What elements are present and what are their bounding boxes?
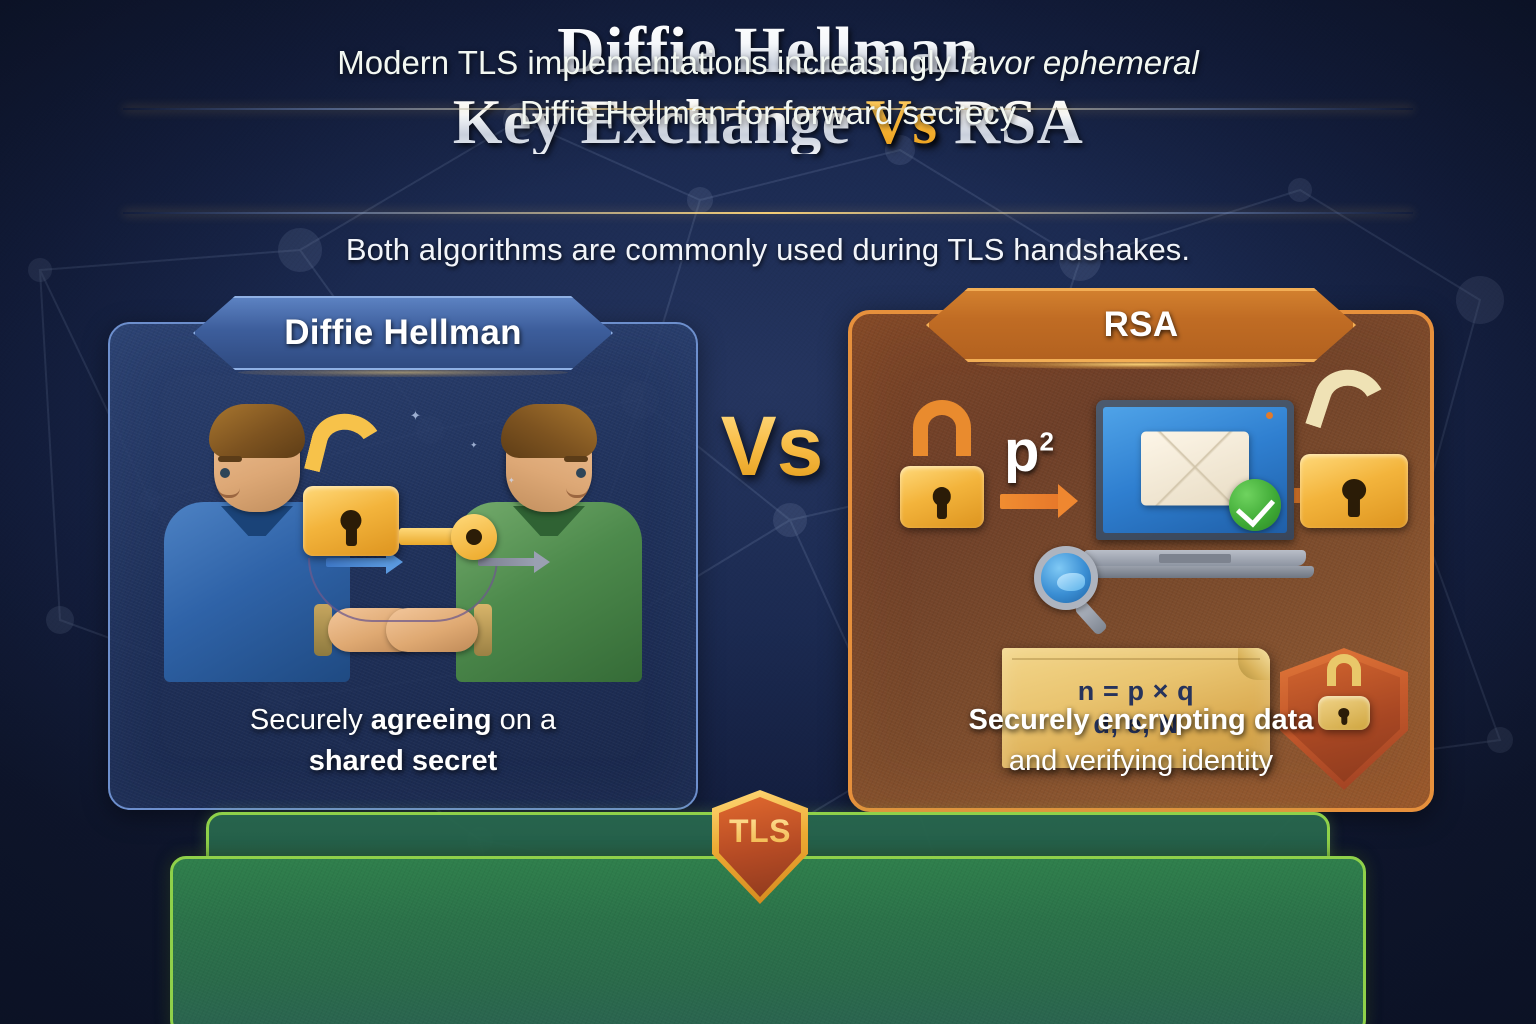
magnifier-icon: [1034, 546, 1118, 630]
person-right-eye: [576, 468, 586, 478]
padlock-keyhole: [340, 510, 361, 531]
panel-diffie-hellman-body: ✦ ✦ ✦ Securely agreeing on a shared secr…: [110, 324, 696, 808]
panel-rsa-body: p2: [852, 314, 1430, 808]
arrow-right-orange-icon: [1000, 494, 1060, 509]
padlock-shackle: [913, 400, 971, 456]
caption-dh-part2: on a: [492, 704, 557, 736]
panel-diffie-hellman-caption: Securely agreeing on a shared secret: [128, 700, 678, 782]
magnifier-lens: [1034, 546, 1098, 610]
banner-diffie-hellman-label: Diffie Hellman: [284, 313, 522, 353]
bottom-line-1-part1: Modern TLS implementations increasingly: [337, 44, 960, 81]
divider-bottom: [123, 212, 1413, 214]
sparkle-icon: ✦: [508, 476, 515, 485]
rsa-illustration: p2: [852, 376, 1430, 716]
vs-separator: Vs: [712, 398, 832, 495]
padlock-body: [900, 466, 984, 528]
padlock-open-icon: [1300, 428, 1408, 528]
panel-rsa-caption: Securely encrypting data and verifying i…: [870, 700, 1412, 782]
arrow-right-blue-icon: [326, 558, 388, 567]
diffie-hellman-illustration: ✦ ✦ ✦: [110, 382, 696, 682]
laptop-screen: [1096, 400, 1294, 540]
bottom-line-1-italic: favor ephemeral: [960, 44, 1198, 81]
padlock-body: [303, 486, 399, 556]
key-bow: [451, 514, 497, 560]
tls-shield-label: TLS: [729, 813, 791, 850]
padlock-body: [1300, 454, 1408, 528]
prime-notation: p2: [1004, 418, 1054, 485]
sparkle-icon: ✦: [470, 440, 478, 451]
caption-rsa-light: and verifying identity: [1009, 745, 1273, 777]
laptop-trackpad: [1159, 554, 1231, 563]
laptop-screen-content: [1103, 407, 1287, 533]
caption-dh-bold2: shared secret: [309, 745, 498, 777]
person-right-hair: [501, 404, 597, 458]
banner-rsa-label: RSA: [1104, 305, 1179, 345]
padlock-closed-icon: [900, 448, 984, 528]
page-subtitle: Both algorithms are commonly used during…: [0, 232, 1536, 268]
prime-base: p: [1004, 419, 1039, 484]
laptop-indicator-dot: [1266, 412, 1273, 419]
caption-dh-bold1: agreeing: [371, 704, 492, 736]
person-right-brow: [564, 456, 588, 462]
banner-diffie-hellman[interactable]: Diffie Hellman: [193, 296, 613, 370]
caption-dh-part1: Securely: [250, 704, 371, 736]
panel-rsa[interactable]: p2: [848, 310, 1434, 812]
person-left-eye: [220, 468, 230, 478]
caption-rsa-bold: Securely encrypting data: [969, 704, 1314, 736]
padlock-keyhole: [1342, 479, 1366, 501]
bottom-line-2: Diffie-Hellman for forward secrecy: [0, 88, 1536, 138]
padlock-shackle: [1327, 654, 1361, 686]
person-left-brow: [218, 456, 242, 462]
padlock-keyhole: [933, 487, 951, 506]
bottom-banner-text: Modern TLS implementations increasingly …: [0, 38, 1536, 138]
bottom-line-1: Modern TLS implementations increasingly …: [0, 38, 1536, 88]
person-left-hair: [209, 404, 305, 458]
banner-rsa[interactable]: RSA: [926, 288, 1356, 362]
sparkle-icon: ✦: [410, 408, 421, 424]
check-circle-icon: [1229, 479, 1281, 531]
arrow-right-grey-icon: [478, 558, 536, 566]
padlock-open-icon: [303, 466, 399, 556]
panel-diffie-hellman[interactable]: ✦ ✦ ✦ Securely agreeing on a shared secr…: [108, 322, 698, 810]
prime-exponent: 2: [1039, 427, 1053, 457]
